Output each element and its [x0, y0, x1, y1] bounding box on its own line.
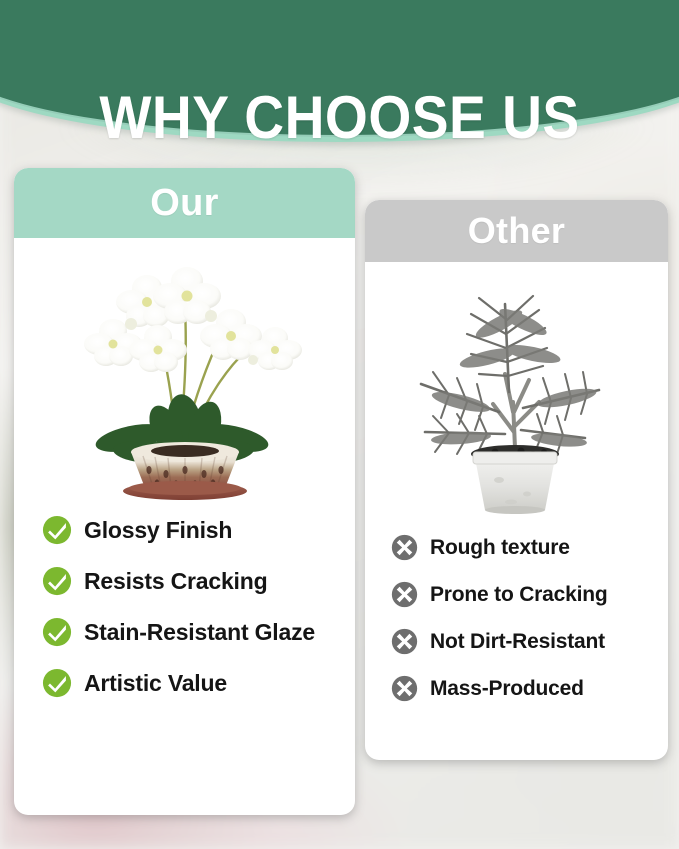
comparison-infographic: WHY CHOOSE US Our: [0, 0, 679, 849]
x-circle-icon: [391, 628, 418, 655]
feature-item: Resists Cracking: [42, 555, 355, 606]
page-title: WHY CHOOSE US: [27, 88, 652, 148]
card-our-feature-list: Glossy Finish Resists Cracking Stain-Res…: [14, 500, 355, 708]
feature-item: Mass-Produced: [391, 665, 668, 712]
feature-label: Stain-Resistant Glaze: [84, 620, 315, 644]
feature-item: Prone to Cracking: [391, 571, 668, 618]
feature-item: Artistic Value: [42, 657, 355, 708]
card-our-heading: Our: [150, 184, 218, 222]
card-other-header: Other: [365, 200, 668, 262]
feature-item: Glossy Finish: [42, 504, 355, 555]
check-circle-icon: [42, 566, 72, 596]
x-circle-icon: [391, 581, 418, 608]
white-orchid-in-glazed-ceramic-pot-illustration: [35, 238, 335, 500]
card-other: Other: [365, 200, 668, 760]
card-other-heading: Other: [468, 212, 566, 250]
feature-item: Rough texture: [391, 524, 668, 571]
feature-label: Not Dirt-Resistant: [430, 630, 605, 654]
card-our-header: Our: [14, 168, 355, 238]
card-other-feature-list: Rough texture Prone to Cracking Not Dirt…: [365, 520, 668, 712]
card-our: Our: [14, 168, 355, 815]
feature-label: Mass-Produced: [430, 677, 584, 701]
feature-label: Artistic Value: [84, 671, 227, 695]
check-circle-icon: [42, 668, 72, 698]
x-circle-icon: [391, 534, 418, 561]
feature-label: Rough texture: [430, 536, 570, 560]
x-circle-icon: [391, 675, 418, 702]
feature-label: Resists Cracking: [84, 569, 267, 593]
card-other-product-image: [365, 262, 668, 520]
check-circle-icon: [42, 617, 72, 647]
feature-item: Stain-Resistant Glaze: [42, 606, 355, 657]
grayscale-palm-plant-illustration: [387, 262, 647, 520]
feature-label: Prone to Cracking: [430, 583, 607, 607]
check-circle-icon: [42, 515, 72, 545]
card-our-product-image: [14, 238, 355, 500]
feature-label: Glossy Finish: [84, 518, 232, 542]
feature-item: Not Dirt-Resistant: [391, 618, 668, 665]
